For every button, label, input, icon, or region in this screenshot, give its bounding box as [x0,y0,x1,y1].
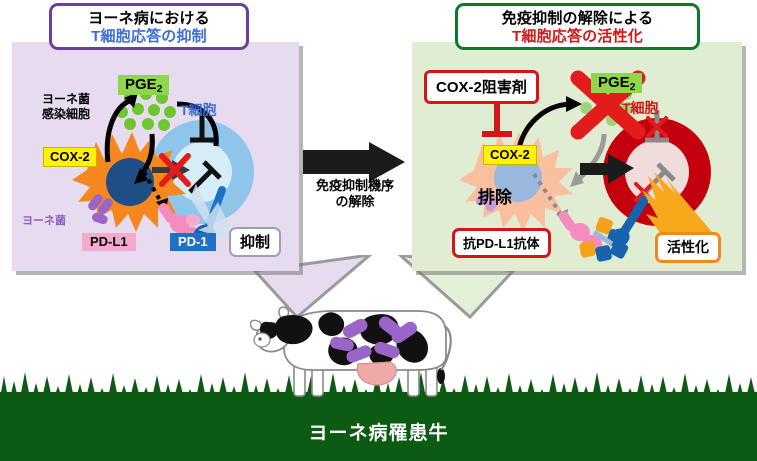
suppression-callout: 抑制 [229,227,281,257]
left-panel-title: ヨーネ病における T細胞応答の抑制 [49,3,249,50]
transition-arrow [303,142,407,182]
holstein-cow [250,292,510,402]
activation-callout: 活性化 [655,232,721,263]
pd1-chip-left: PD-1 [170,233,216,251]
udder [357,362,396,385]
cox2-chip-left: COX-2 [43,147,97,167]
transition-caption: 免疫抑制機序 の解除 [299,178,411,211]
cox2-inhibitor-box: COX-2阻害剤 [424,70,539,104]
right-panel-title: 免疫抑制の解除による T細胞応答の活性化 [455,3,700,50]
right-title-line2: T細胞応答の活性化 [468,28,687,46]
label-tcell-right: T細胞 [622,98,659,118]
pdl1-chip-left: PD-L1 [82,233,136,251]
pge2-chip-left: PGE2 [118,75,169,95]
right-title-line1: 免疫抑制の解除による [468,10,687,28]
anti-pdl1-callout: 抗PD-L1抗体 [452,228,551,258]
label-bacteria-left: ヨーネ菌 [22,212,66,228]
left-title-line1: ヨーネ病における [62,10,236,28]
label-elimination: 排除 [478,183,512,208]
label-infected-cell-left: ヨーネ菌 感染細胞 [30,92,102,122]
cox2-chip-right: COX-2 [483,145,537,165]
label-tcell-left: T細胞 [180,100,217,120]
bottom-caption: ヨーネ病罹患牛 [0,418,757,445]
pge2-chip-right: PGE2 [591,73,642,93]
figure-canvas: ヨーネ病罹患牛 [0,0,757,461]
left-title-line2: T細胞応答の抑制 [62,28,236,46]
